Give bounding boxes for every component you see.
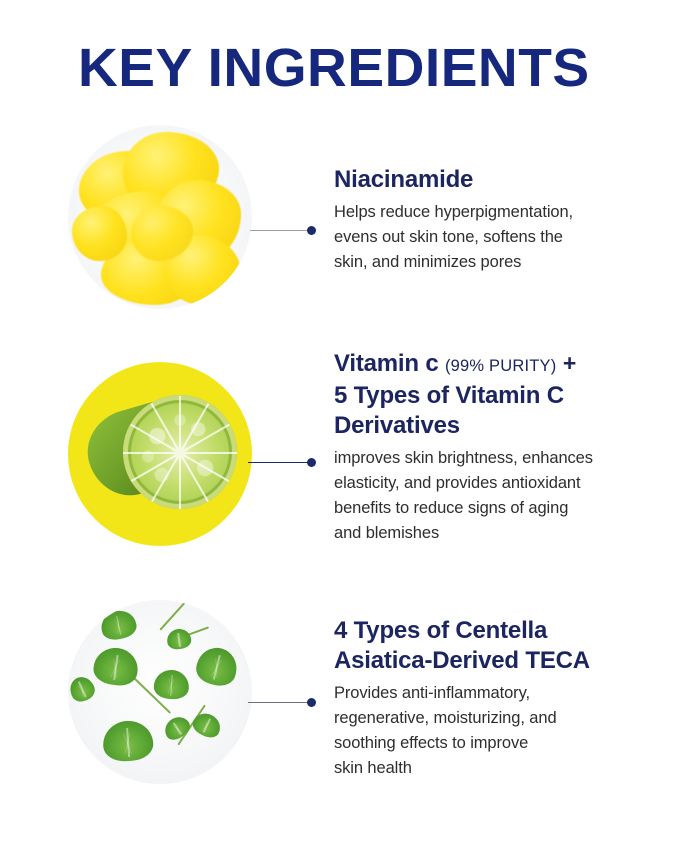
connector-line-vitamin-c xyxy=(248,456,313,470)
connector-line-teca xyxy=(248,696,313,710)
lime-segment xyxy=(179,396,181,453)
description-line: skin health xyxy=(334,756,654,781)
page-title: KEY INGREDIENTS xyxy=(78,36,590,100)
description-line: benefits to reduce signs of aging xyxy=(334,496,654,521)
ingredient-description-vitamin-c: improves skin brightness, enhances elast… xyxy=(334,446,654,546)
connector-stroke xyxy=(250,230,313,231)
description-line: skin, and minimizes pores xyxy=(334,250,654,275)
centella-leaf xyxy=(193,643,241,688)
lime-segment xyxy=(179,453,181,509)
connector-line-niacinamide xyxy=(250,224,313,238)
lime-segment xyxy=(180,452,237,454)
ingredient-heading-teca: 4 Types of Centella Asiatica-Derived TEC… xyxy=(334,616,654,676)
gel-blob xyxy=(72,206,127,261)
description-line: Helps reduce hyperpigmentation, xyxy=(334,200,654,225)
ingredient-text-teca: 4 Types of Centella Asiatica-Derived TEC… xyxy=(334,616,654,781)
lime-segment xyxy=(123,452,180,454)
connector-stroke xyxy=(248,702,313,703)
ingredient-heading-text: 4 Types of Centella xyxy=(334,617,547,644)
ingredient-text-niacinamide: Niacinamide Helps reduce hyperpigmentati… xyxy=(334,165,654,275)
ingredient-image-niacinamide xyxy=(68,125,252,309)
description-line: soothing effects to improve xyxy=(334,731,654,756)
description-line: and blemishes xyxy=(334,521,654,546)
ingredient-purity-note: (99% PURITY) xyxy=(445,357,557,375)
connector-dot-icon xyxy=(307,226,316,235)
ingredient-heading-niacinamide: Niacinamide xyxy=(334,165,654,195)
ingredient-heading-text: Vitamin c xyxy=(334,350,438,377)
description-line: elasticity, and provides antioxidant xyxy=(334,471,654,496)
ingredient-text-vitamin-c: Vitamin c (99% PURITY) + 5 Types of Vita… xyxy=(334,348,654,546)
description-line: improves skin brightness, enhances xyxy=(334,446,654,471)
ingredient-heading-line2: Asiatica-Derived TECA xyxy=(334,647,590,674)
connector-dot-icon xyxy=(307,698,316,707)
ingredient-description-teca: Provides anti-inflammatory, regenerative… xyxy=(334,681,654,781)
centella-leaf xyxy=(190,709,224,741)
ingredient-description-niacinamide: Helps reduce hyperpigmentation, evens ou… xyxy=(334,200,654,275)
description-line: Provides anti-inflammatory, xyxy=(334,681,654,706)
leaf-stem xyxy=(159,600,202,631)
description-line: regenerative, moisturizing, and xyxy=(334,706,654,731)
lime-half-photo xyxy=(68,362,252,546)
description-line: evens out skin tone, softens the xyxy=(334,225,654,250)
ingredient-heading-vitamin-c: Vitamin c (99% PURITY) + 5 Types of Vita… xyxy=(334,348,654,441)
centella-leaf xyxy=(166,628,192,651)
ingredient-heading-text: Niacinamide xyxy=(334,166,473,193)
ingredient-heading-line3: Derivatives xyxy=(334,412,460,439)
ingredient-plus-symbol: + xyxy=(563,350,576,376)
centella-leaf xyxy=(160,712,193,743)
ingredient-heading-line2: 5 Types of Vitamin C xyxy=(334,382,564,409)
centella-leaf xyxy=(91,645,140,688)
centella-leaf xyxy=(102,720,154,764)
connector-dot-icon xyxy=(307,458,316,467)
centella-leaf xyxy=(153,669,190,701)
yellow-gel-texture-photo xyxy=(68,125,252,309)
connector-stroke xyxy=(248,462,313,463)
centella-leaves-photo xyxy=(68,600,252,784)
ingredient-image-vitamin-c xyxy=(68,362,252,546)
centella-leaf xyxy=(99,608,139,642)
ingredient-image-teca xyxy=(68,600,252,784)
lime-half xyxy=(123,395,237,509)
centella-leaf xyxy=(68,673,98,705)
